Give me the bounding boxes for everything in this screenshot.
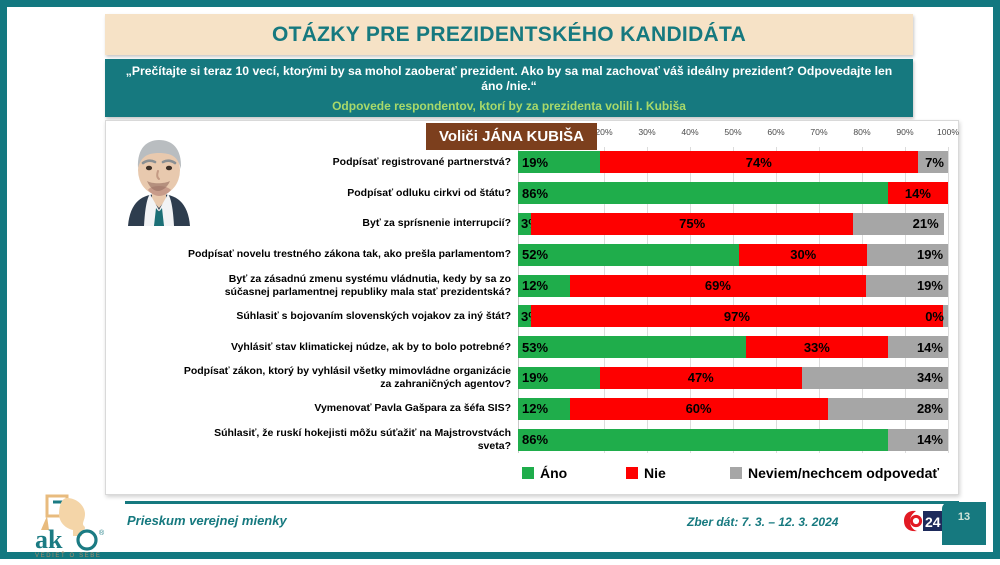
bar-segment-nev: 19% xyxy=(866,275,948,297)
bar-segment-nie: 97% xyxy=(531,305,943,327)
stacked-bar: 3%75%21% xyxy=(518,213,948,235)
x-axis-tick: 80% xyxy=(853,127,870,137)
ako-tagline: VEDIEŤ O SEBE xyxy=(35,551,101,559)
bar-segment-nev: 14% xyxy=(888,429,948,451)
footer-left-text: Prieskum verejnej mienky xyxy=(127,513,287,528)
footer-divider xyxy=(125,501,959,504)
chart-row: Súhlasiť, že ruskí hokejisti môžu súťaži… xyxy=(106,424,958,455)
chart-title-badge: Voliči JÁNA KUBIŠA xyxy=(426,123,597,150)
x-axis-tick: 60% xyxy=(767,127,784,137)
svg-text:24: 24 xyxy=(925,514,941,530)
bar-segment-nie: 33% xyxy=(746,336,888,358)
bar-segment-nev: 14% xyxy=(888,336,948,358)
bar-segment-nie: 14% xyxy=(888,182,948,204)
question-label: Podpísať odluku cirkvi od štátu? xyxy=(181,178,511,209)
bar-value-label: 33% xyxy=(804,340,830,355)
stacked-bar: 19%74%7% xyxy=(518,151,948,173)
x-axis-tick: 30% xyxy=(638,127,655,137)
page-number: 13 xyxy=(942,502,986,545)
question-label: Podpísať zákon, ktorý by vyhlásil všetky… xyxy=(181,363,511,394)
legend-label: Áno xyxy=(540,465,567,481)
bar-value-label: 74% xyxy=(746,155,772,170)
page-title: OTÁZKY PRE PREZIDENTSKÉHO KANDIDÁTA xyxy=(272,23,746,47)
chart-legend: ÁnoNieNeviem/nechcem odpovedať xyxy=(106,462,958,484)
question-label: Vymenovať Pavla Gašpara za šéfa SIS? xyxy=(181,393,511,424)
chart-row: Podpísať zákon, ktorý by vyhlásil všetky… xyxy=(106,363,958,394)
bar-value-label: 12% xyxy=(522,278,548,293)
slide-frame: OTÁZKY PRE PREZIDENTSKÉHO KANDIDÁTA „Pre… xyxy=(0,0,1000,559)
question-label: Súhlasiť s bojovaním slovenských vojakov… xyxy=(181,301,511,332)
chart-row: Byť za zásadnú zmenu systému vládnutia, … xyxy=(106,270,958,301)
bar-segment-nie: 74% xyxy=(600,151,918,173)
bar-value-label: 47% xyxy=(688,370,714,385)
slide-title-band: OTÁZKY PRE PREZIDENTSKÉHO KANDIDÁTA xyxy=(105,14,913,55)
chart-row: Vymenovať Pavla Gašpara za šéfa SIS?12%6… xyxy=(106,393,958,424)
legend-label: Nie xyxy=(644,465,666,481)
question-label: Byť za zásadnú zmenu systému vládnutia, … xyxy=(181,270,511,301)
bar-segment-nie: 30% xyxy=(739,244,867,266)
chart-row: Byť za sprísnenie interrupcií?3%75%21% xyxy=(106,209,958,240)
bar-value-label: 30% xyxy=(790,247,816,262)
bar-value-label: 69% xyxy=(705,278,731,293)
chart-card: Voliči JÁNA KUBIŠA 20%30%40%50%60%70%80%… xyxy=(105,120,959,495)
chart-row: Podpísať novelu trestného zákona tak, ak… xyxy=(106,239,958,270)
bar-value-label: 19% xyxy=(522,155,548,170)
x-axis-tick: 90% xyxy=(896,127,913,137)
stacked-bar: 3%97%0% xyxy=(518,305,948,327)
x-axis-tick: 40% xyxy=(681,127,698,137)
bar-value-label: 53% xyxy=(522,340,548,355)
bar-value-label: 19% xyxy=(522,370,548,385)
bar-value-label: 75% xyxy=(679,216,705,231)
bar-segment-ano: 19% xyxy=(518,151,600,173)
legend-item[interactable]: Áno xyxy=(522,465,567,481)
bar-segment-nev: 34% xyxy=(802,367,948,389)
bar-segment-ano: 3% xyxy=(518,305,531,327)
bar-segment-ano: 3% xyxy=(518,213,531,235)
stacked-bar: 19%47%34% xyxy=(518,367,948,389)
bar-value-label: 86% xyxy=(522,186,548,201)
bar-segment-ano: 86% xyxy=(518,429,888,451)
bar-value-label: 97% xyxy=(724,309,750,324)
x-axis-tick: 50% xyxy=(724,127,741,137)
stacked-bar: 86%14% xyxy=(518,182,948,204)
bar-value-label: 14% xyxy=(917,432,943,447)
question-banner: „Prečítajte si teraz 10 vecí, ktorými by… xyxy=(105,59,913,117)
bar-segment-ano: 53% xyxy=(518,336,746,358)
chart-row: Súhlasiť s bojovaním slovenských vojakov… xyxy=(106,301,958,332)
chart-row: Vyhlásiť stav klimatickej núdze, ak by t… xyxy=(106,332,958,363)
stacked-bar: 86%14% xyxy=(518,429,948,451)
bar-segment-ano: 52% xyxy=(518,244,739,266)
x-axis-tick: 100% xyxy=(937,127,959,137)
question-label: Podpísať registrované partnerstvá? xyxy=(181,147,511,178)
legend-swatch-icon xyxy=(522,467,534,479)
legend-swatch-icon xyxy=(626,467,638,479)
bar-segment-nev: 7% xyxy=(918,151,948,173)
stacked-bar: 52%30%19% xyxy=(518,244,948,266)
svg-text:ak: ak xyxy=(35,525,63,554)
bar-value-label: 21% xyxy=(913,216,939,231)
bar-segment-ano: 19% xyxy=(518,367,600,389)
bar-value-label: 28% xyxy=(917,401,943,416)
bar-value-label: 0% xyxy=(925,309,944,324)
question-label: Vyhlásiť stav klimatickej núdze, ak by t… xyxy=(181,332,511,363)
bar-segment-nie: 69% xyxy=(570,275,867,297)
question-label: Byť za sprísnenie interrupcií? xyxy=(181,209,511,240)
legend-item[interactable]: Nie xyxy=(626,465,666,481)
ako-logo: ak ® VEDIEŤ O SEBE xyxy=(21,494,117,560)
bar-value-label: 14% xyxy=(917,340,943,355)
question-text: „Prečítajte si teraz 10 vecí, ktorými by… xyxy=(117,64,901,94)
bar-segment-nev: 19% xyxy=(867,244,948,266)
question-label: Podpísať novelu trestného zákona tak, ak… xyxy=(181,239,511,270)
bar-value-label: 86% xyxy=(522,432,548,447)
bar-segment-ano: 86% xyxy=(518,182,888,204)
footer-date-text: Zber dát: 7. 3. – 12. 3. 2024 xyxy=(687,515,838,529)
legend-swatch-icon xyxy=(730,467,742,479)
bar-value-label: 52% xyxy=(522,247,548,262)
bar-segment-nev: 28% xyxy=(828,398,948,420)
bar-segment-nie: 47% xyxy=(600,367,802,389)
bar-segment-ano: 12% xyxy=(518,398,570,420)
chart-row: Podpísať registrované partnerstvá?19%74%… xyxy=(106,147,958,178)
chart-plot-area: Podpísať registrované partnerstvá?19%74%… xyxy=(106,147,958,494)
bar-value-label: 60% xyxy=(686,401,712,416)
bar-value-label: 19% xyxy=(917,247,943,262)
bar-value-label: 7% xyxy=(925,155,944,170)
stacked-bar: 53%33%14% xyxy=(518,336,948,358)
chart-rows: Podpísať registrované partnerstvá?19%74%… xyxy=(106,147,958,453)
bar-segment-nev: 21% xyxy=(853,213,943,235)
bar-value-label: 12% xyxy=(522,401,548,416)
legend-item[interactable]: Neviem/nechcem odpovedať xyxy=(730,465,939,481)
respondent-note: Odpovede respondentov, ktorí by za prezi… xyxy=(332,99,686,113)
bar-value-label: 34% xyxy=(917,370,943,385)
svg-text:®: ® xyxy=(99,529,105,537)
bar-value-label: 14% xyxy=(905,186,931,201)
chart-row: Podpísať odluku cirkvi od štátu?86%14% xyxy=(106,178,958,209)
bar-segment-nev: 0% xyxy=(943,305,948,327)
bar-segment-nie: 75% xyxy=(531,213,854,235)
x-axis-tick: 20% xyxy=(595,127,612,137)
stacked-bar: 12%69%19% xyxy=(518,275,948,297)
bar-segment-nie: 60% xyxy=(570,398,828,420)
bar-segment-ano: 12% xyxy=(518,275,570,297)
bar-value-label: 19% xyxy=(917,278,943,293)
legend-label: Neviem/nechcem odpovedať xyxy=(748,465,939,481)
stacked-bar: 12%60%28% xyxy=(518,398,948,420)
question-label: Súhlasiť, že ruskí hokejisti môžu súťaži… xyxy=(181,424,511,455)
x-axis-tick: 70% xyxy=(810,127,827,137)
